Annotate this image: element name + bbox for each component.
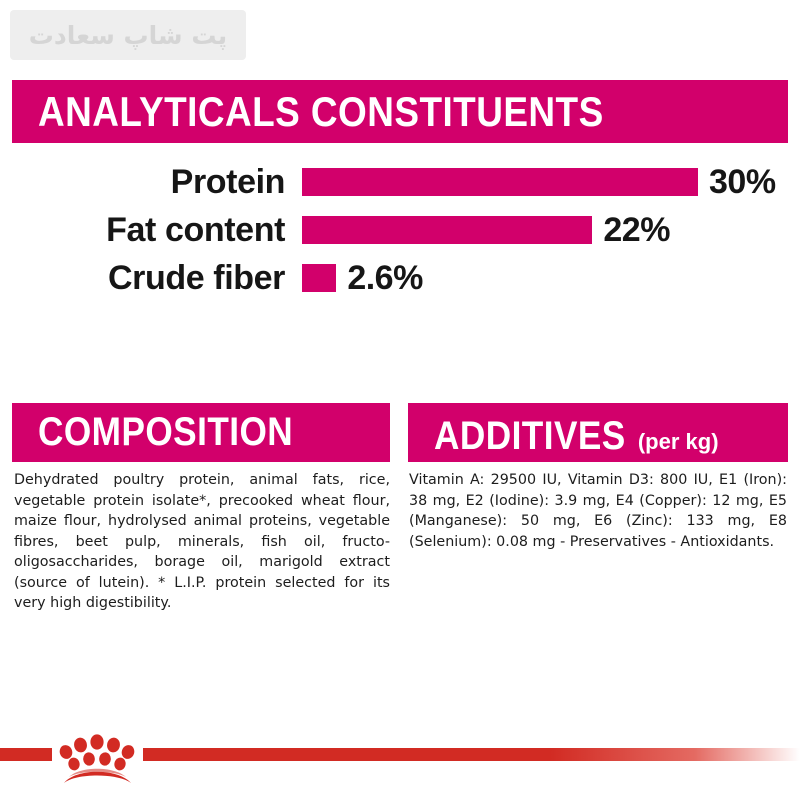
composition-banner: COMPOSITION bbox=[12, 403, 390, 462]
analyticals-constituents-banner: ANALYTICALS CONSTITUENTS bbox=[12, 80, 788, 143]
chart-row-fat-content: Fat content 22% bbox=[0, 207, 800, 253]
bar-fill-fat-content bbox=[302, 216, 592, 244]
watermark-text: پت شاپ سعادت bbox=[29, 23, 227, 48]
analyticals-constituents-title: ANALYTICALS CONSTITUENTS bbox=[38, 88, 604, 136]
bar-value-crude-fiber: 2.6% bbox=[347, 259, 423, 298]
bar-label-protein: Protein bbox=[0, 163, 285, 202]
bar-fill-protein bbox=[302, 168, 698, 196]
analytical-constituents-chart: Protein 30% Fat content 22% Crude fiber … bbox=[0, 155, 800, 305]
bar-fill-crude-fiber bbox=[302, 264, 336, 292]
footer-rule-right bbox=[143, 748, 800, 761]
bar-track-protein: 30% bbox=[302, 168, 776, 196]
bar-track-crude-fiber: 2.6% bbox=[302, 264, 423, 292]
bar-value-protein: 30% bbox=[709, 163, 776, 202]
additives-body-text: Vitamin A: 29500 IU, Vitamin D3: 800 IU,… bbox=[409, 470, 787, 552]
bar-label-crude-fiber: Crude fiber bbox=[0, 259, 285, 298]
footer-rule-left bbox=[0, 748, 52, 761]
additives-per-kg-label: (per kg) bbox=[638, 429, 719, 455]
watermark-badge: پت شاپ سعادت bbox=[10, 10, 246, 60]
footer-bar bbox=[0, 748, 800, 764]
royal-canin-crown-icon bbox=[56, 726, 140, 788]
additives-title: ADDITIVES bbox=[434, 414, 626, 459]
chart-row-crude-fiber: Crude fiber 2.6% bbox=[0, 255, 800, 301]
composition-title: COMPOSITION bbox=[38, 410, 293, 455]
bar-track-fat-content: 22% bbox=[302, 216, 670, 244]
chart-row-protein: Protein 30% bbox=[0, 159, 800, 205]
composition-body-text: Dehydrated poultry protein, animal fats,… bbox=[14, 470, 390, 614]
bar-value-fat-content: 22% bbox=[603, 211, 670, 250]
additives-banner: ADDITIVES (per kg) bbox=[408, 403, 788, 462]
bar-label-fat-content: Fat content bbox=[0, 211, 285, 250]
